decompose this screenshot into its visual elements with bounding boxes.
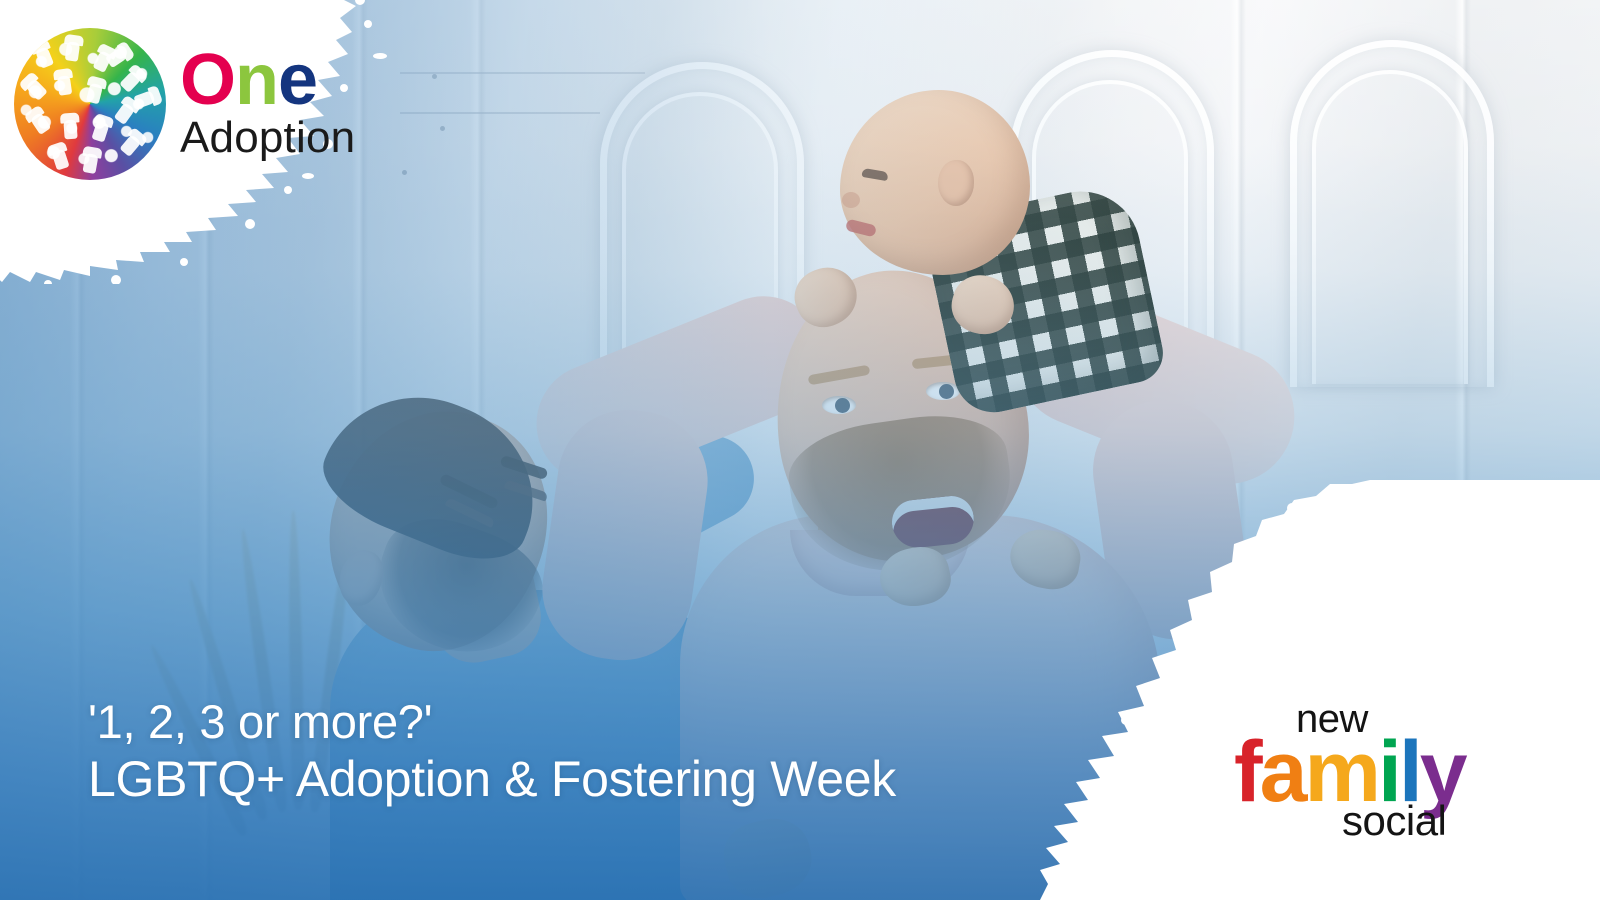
person-baby [810, 80, 1150, 410]
ear [938, 160, 974, 206]
wall-hairline [400, 72, 645, 74]
nose [842, 192, 860, 208]
wall-mark-dot [440, 126, 445, 131]
headline-line-1: '1, 2, 3 or more?' [88, 695, 896, 750]
nfs-social-word: social [1342, 802, 1494, 840]
one-letter-o: O [180, 40, 235, 120]
campaign-headline: '1, 2, 3 or more?' LGBTQ+ Adoption & Fos… [88, 695, 896, 808]
wall-mark-dot [432, 74, 437, 79]
campaign-banner: One Adoption new family social '1, 2, 3 … [0, 0, 1600, 900]
wall-moulding-arch [1312, 70, 1468, 384]
family-letter-a: a [1260, 724, 1305, 820]
one-letter-n: n [235, 40, 278, 120]
wall-hairline [400, 112, 600, 114]
adoption-wordmark: Adoption [180, 115, 355, 161]
logo-one-adoption[interactable]: One Adoption [14, 28, 355, 180]
head [840, 90, 1030, 275]
one-wordmark: One [180, 47, 355, 113]
logo-new-family-social[interactable]: new family social [1234, 702, 1494, 840]
rainbow-handprint-circle-icon [14, 28, 166, 180]
one-letter-e: e [278, 40, 317, 120]
headline-line-2: LGBTQ+ Adoption & Fostering Week [88, 750, 896, 808]
logo-one-adoption-wordmark: One Adoption [180, 47, 355, 161]
family-letter-f: f [1234, 724, 1260, 820]
